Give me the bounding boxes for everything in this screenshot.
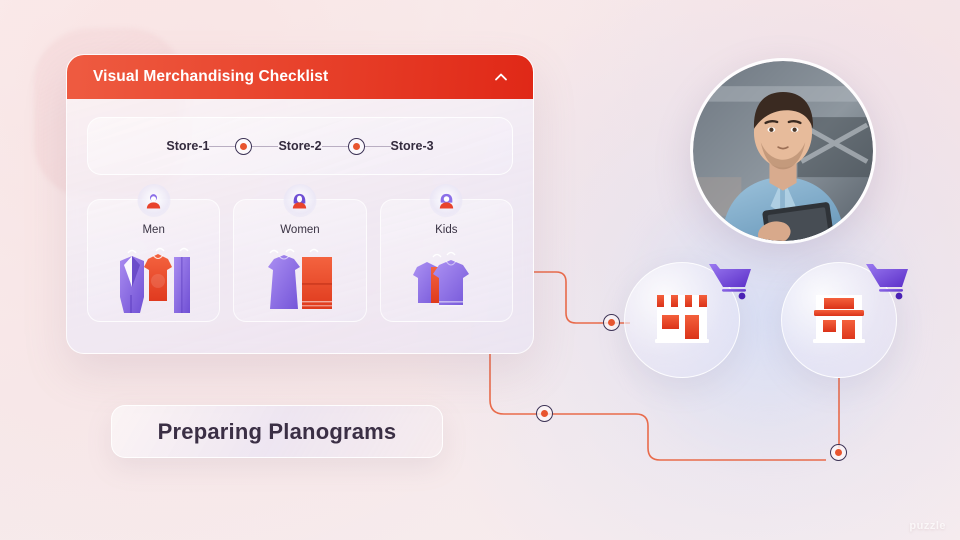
store-selector: Store-1 Store-2 Store-3 — [87, 117, 513, 175]
node-dot — [835, 449, 842, 456]
category-label-women: Women — [280, 224, 319, 236]
store-option-2[interactable]: Store-2 — [278, 139, 321, 153]
category-label-kids: Kids — [435, 224, 457, 236]
card-header: Visual Merchandising Checklist — [67, 55, 533, 99]
person-photo-avatar — [693, 61, 873, 241]
kids-apparel-icon — [403, 238, 489, 321]
category-label-men: Men — [142, 224, 164, 236]
node-dot — [353, 143, 360, 150]
connector-dash — [322, 146, 348, 147]
connector-node-store2[interactable] — [830, 444, 847, 461]
connector-node-store1[interactable] — [603, 314, 620, 331]
avatar — [690, 58, 876, 244]
connector-dash — [209, 146, 235, 147]
avatar-kid-icon — [430, 184, 463, 217]
store-circle-2[interactable] — [781, 262, 897, 378]
connector-dash — [365, 146, 391, 147]
store-circle-1[interactable] — [624, 262, 740, 378]
caption-pill: Preparing Planograms — [111, 405, 443, 458]
node-dot — [240, 143, 247, 150]
womens-apparel-icon — [254, 238, 346, 321]
category-card-men[interactable]: Men — [87, 199, 220, 322]
storefront-awning-icon — [651, 289, 713, 352]
visual-merchandising-card: Visual Merchandising Checklist Store-1 S… — [66, 54, 534, 354]
chevron-up-icon[interactable] — [491, 67, 511, 87]
node-dot — [541, 410, 548, 417]
store-connector-2 — [322, 138, 391, 155]
shop-building-icon — [808, 289, 870, 352]
store-node-2[interactable] — [348, 138, 365, 155]
mens-apparel-icon — [106, 238, 202, 321]
caption-text: Preparing Planograms — [158, 419, 397, 445]
connector-node-mid[interactable] — [536, 405, 553, 422]
store-connector-1 — [209, 138, 278, 155]
connector-dash — [252, 146, 278, 147]
avatar-woman-icon — [283, 184, 316, 217]
avatar-man-icon — [137, 184, 170, 217]
category-card-kids[interactable]: Kids — [380, 199, 513, 322]
category-card-women[interactable]: Women — [233, 199, 366, 322]
shopping-cart-icon — [705, 259, 755, 301]
node-dot — [608, 319, 615, 326]
store-option-3[interactable]: Store-3 — [391, 139, 434, 153]
store-option-1[interactable]: Store-1 — [166, 139, 209, 153]
page-title: Visual Merchandising Checklist — [93, 68, 328, 86]
category-card-list: Men — [87, 199, 513, 322]
watermark: puzzle — [909, 520, 946, 532]
store-node-1[interactable] — [235, 138, 252, 155]
shopping-cart-icon — [862, 259, 912, 301]
